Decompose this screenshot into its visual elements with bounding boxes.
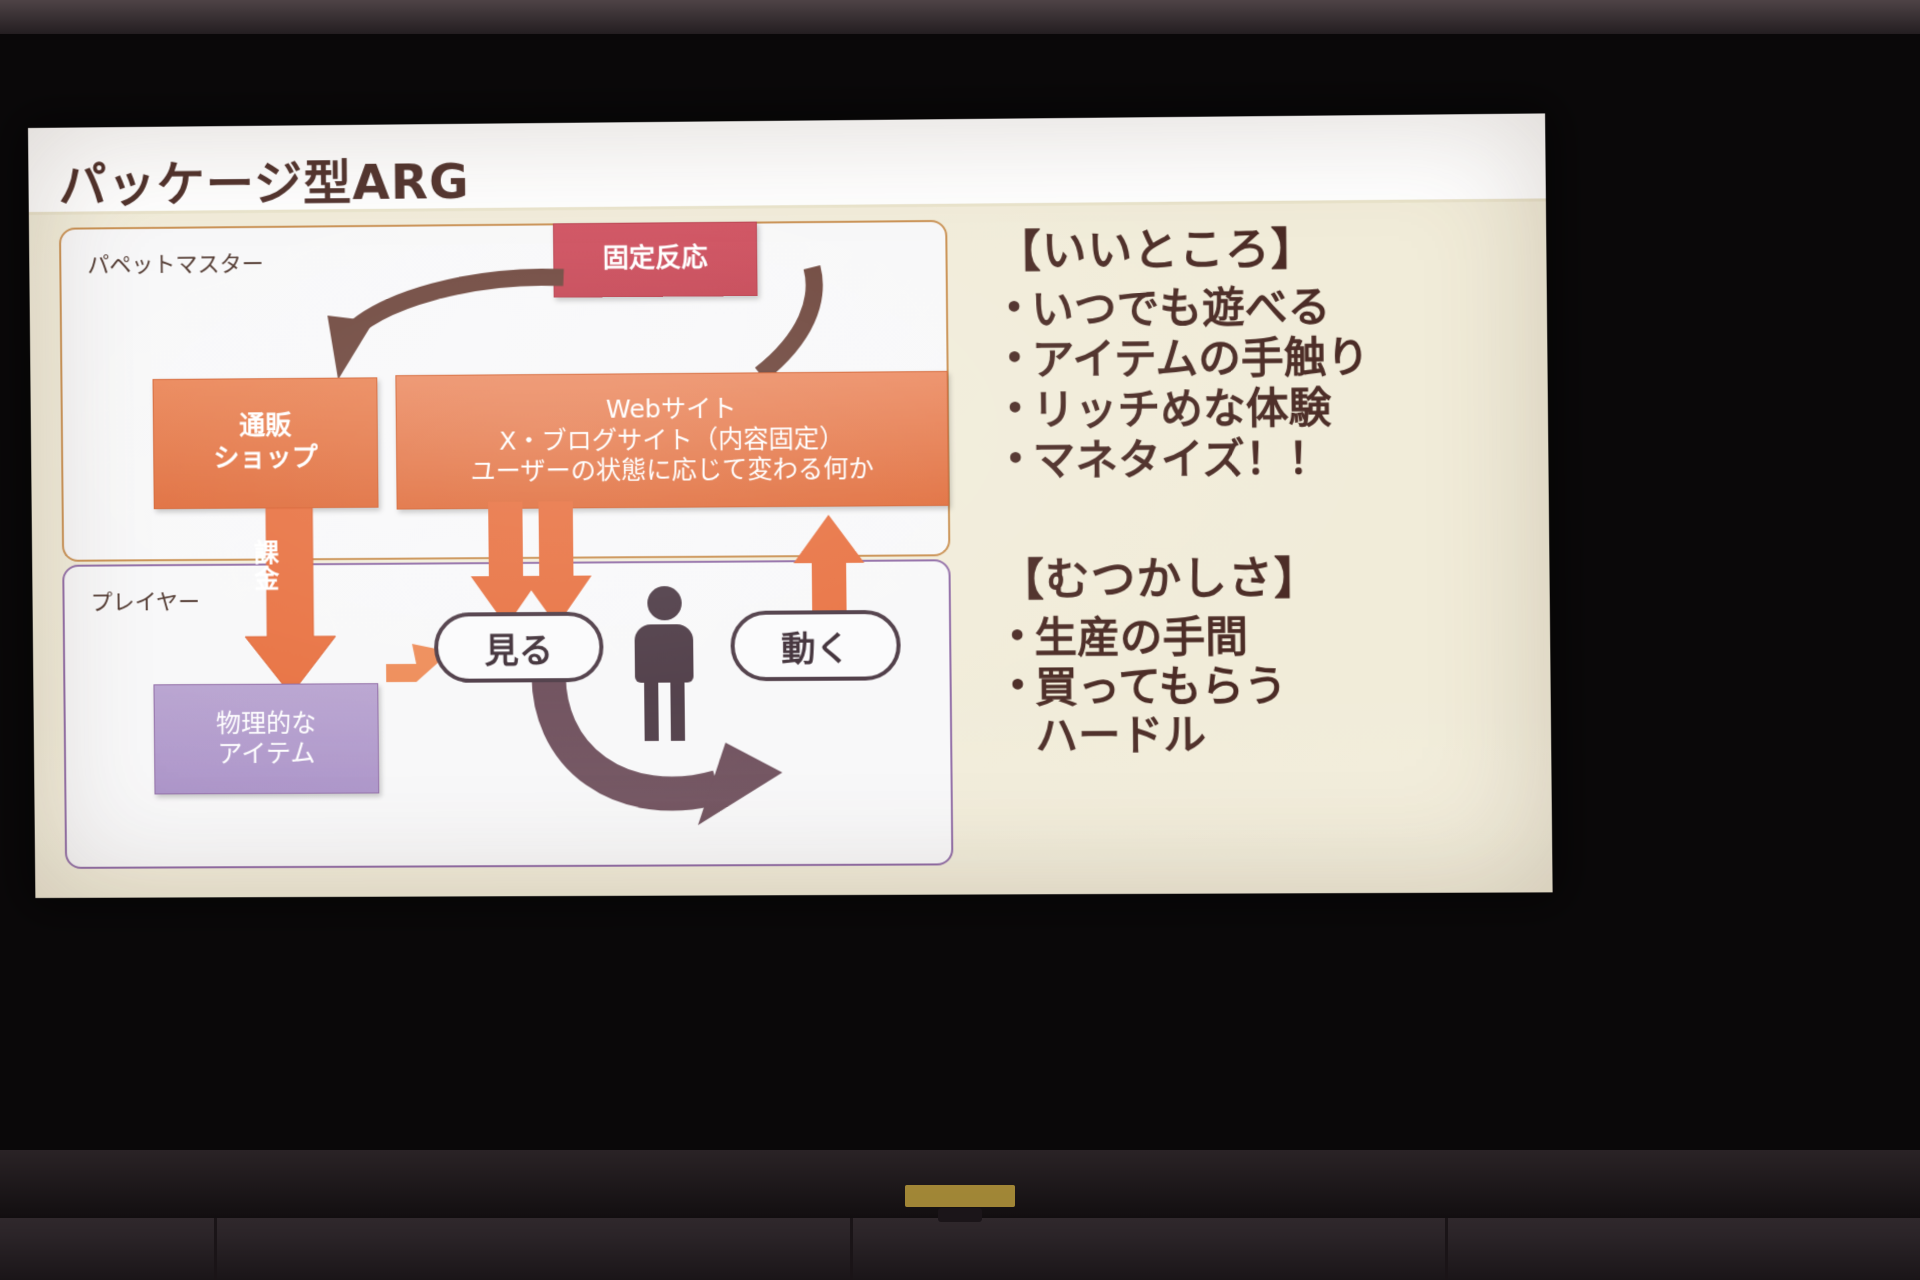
list-item: • 買ってもらう ハードル: [1000, 661, 1531, 760]
list-item: • リッチめな体験: [997, 382, 1527, 434]
box-website-line-2: X・ブログサイト（内容固定）: [499, 424, 845, 457]
bullet-icon: •: [997, 336, 1032, 382]
lane-label-puppet-master: パペットマスター: [87, 246, 264, 280]
diagram-container: パペットマスター プレイヤー 固定反応: [51, 212, 954, 880]
list-item: • 生産の手間: [1000, 611, 1530, 662]
bullet-icon: •: [996, 286, 1031, 332]
list-item: • アイテムの手触り: [997, 332, 1527, 384]
box-physical-item-line-2: アイテム: [217, 739, 315, 770]
person-head-shape: [647, 586, 682, 620]
notes-spacer: [998, 483, 1528, 543]
tv-top-bezel: [0, 0, 1920, 34]
tv-ir-receiver: [938, 1208, 982, 1222]
notes-heading-hard: 【むつかしさ】: [999, 540, 1529, 608]
notes-item-label: 生産の手間: [1034, 612, 1248, 661]
notes-heading-good: 【いいところ】: [996, 211, 1526, 280]
list-item: • マネタイズ！！: [998, 433, 1528, 485]
oval-see-label: 見る: [484, 622, 553, 672]
player-person-icon: [627, 586, 701, 742]
presentation-slide: パッケージ型ARG パペットマスター プレイヤー 固定反応: [28, 113, 1553, 898]
page-title: パッケージ型ARG: [58, 142, 470, 216]
notes-item-label: いつでも遊べる: [1031, 283, 1331, 334]
arrow-charge-label: 課 金: [246, 540, 287, 593]
room-background: パッケージ型ARG パペットマスター プレイヤー 固定反応: [0, 0, 1920, 1280]
box-website-line-3: ユーザーの状態に応じて変わる何か: [470, 454, 874, 487]
arrow-fixed-response-to-website-icon: [307, 265, 570, 387]
oval-move-label: 動く: [781, 621, 850, 671]
notes-item-label: リッチめな体験: [1032, 384, 1332, 435]
person-leg-left-shape: [644, 679, 659, 741]
oval-see: 見る: [434, 612, 604, 683]
bullet-icon: •: [1000, 614, 1035, 660]
notes-item-label: 買ってもらう ハードル: [1035, 663, 1288, 761]
box-shop: 通販 ショップ: [153, 377, 379, 509]
box-fixed-response-label: 固定反応: [603, 243, 708, 276]
box-website: Webサイト X・ブログサイト（内容固定） ユーザーの状態に応じて変わる何か: [395, 371, 949, 510]
box-shop-line-2: ショップ: [213, 443, 318, 476]
oval-move: 動く: [730, 610, 901, 681]
box-physical-item-line-1: 物理的な: [216, 708, 317, 739]
person-body-shape: [634, 624, 693, 683]
notes-list-hard: • 生産の手間 • 買ってもらう ハードル: [1000, 611, 1531, 761]
box-shop-line-1: 通販: [239, 411, 291, 443]
list-item: • いつでも遊べる: [996, 282, 1526, 335]
person-leg-right-shape: [670, 679, 685, 741]
notes-column: 【いいところ】 • いつでも遊べる • アイテムの手触り • リッチめな体験: [996, 211, 1531, 763]
arrow-website-to-fixed-response-icon: [745, 263, 888, 385]
notes-list-good: • いつでも遊べる • アイテムの手触り • リッチめな体験 • マネタイズ！！: [996, 282, 1528, 485]
arrow-charge-icon: [234, 508, 346, 699]
tv-brand-label: [905, 1186, 1015, 1206]
notes-item-label: アイテムの手触り: [1031, 333, 1369, 384]
box-fixed-response: 固定反応: [553, 222, 758, 298]
notes-item-label: マネタイズ！！: [1032, 434, 1330, 484]
box-website-line-1: Webサイト: [606, 394, 737, 426]
bullet-icon: •: [997, 386, 1032, 432]
box-physical-item: 物理的な アイテム: [153, 683, 379, 794]
television-display: パッケージ型ARG パペットマスター プレイヤー 固定反応: [0, 0, 1920, 1215]
lane-label-player: プレイヤー: [90, 584, 200, 617]
bullet-icon: •: [998, 436, 1033, 482]
bullet-icon: •: [1000, 664, 1035, 710]
